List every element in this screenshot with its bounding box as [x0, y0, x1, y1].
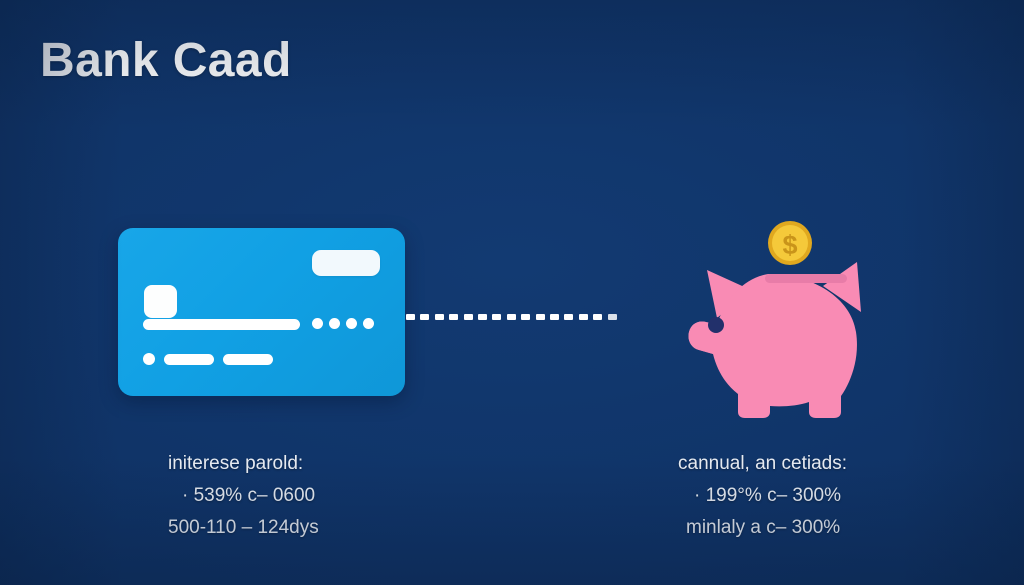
card-dot	[363, 318, 374, 329]
left-info-block: initerese parold: · 539% c– 0600 500-110…	[168, 448, 319, 544]
dash-segment	[492, 314, 501, 320]
slide-canvas: Bank Caad $	[0, 0, 1024, 585]
coin-dollar-icon: $	[782, 230, 797, 260]
dash-segment	[435, 314, 444, 320]
card-number-bar	[143, 319, 300, 330]
card-detail-bar-1	[164, 354, 214, 365]
left-line-2: · 539% c– 0600	[168, 480, 319, 512]
dash-segment	[521, 314, 530, 320]
card-dot	[346, 318, 357, 329]
dashed-connector-line	[406, 314, 622, 320]
piggy-eye	[708, 317, 724, 333]
dash-segment	[536, 314, 545, 320]
card-dot-group	[312, 318, 374, 329]
card-detail-bar-2	[223, 354, 273, 365]
card-chip-icon	[144, 285, 177, 318]
page-title: Bank Caad	[40, 33, 292, 88]
dash-segment	[564, 314, 573, 320]
dash-segment	[608, 314, 617, 320]
right-line-2: · 199°% c– 300%	[678, 480, 847, 512]
card-small-dot	[143, 353, 155, 365]
dash-segment	[507, 314, 516, 320]
credit-card-illustration	[118, 228, 405, 396]
card-stripe	[312, 250, 380, 276]
dash-segment	[579, 314, 588, 320]
dash-segment	[406, 314, 415, 320]
piggy-bank-illustration: $	[655, 212, 885, 427]
dash-segment	[449, 314, 458, 320]
dash-segment	[593, 314, 602, 320]
left-heading: initerese parold:	[168, 448, 319, 480]
right-heading: cannual, an cetiads:	[678, 448, 847, 480]
left-line-3: 500-110 – 124dys	[168, 512, 319, 544]
piggy-coin-slot	[765, 274, 847, 283]
right-info-block: cannual, an cetiads: · 199°% c– 300% min…	[678, 448, 847, 544]
dash-segment	[550, 314, 559, 320]
right-line-3: minlaly a c– 300%	[678, 512, 847, 544]
card-dot	[329, 318, 340, 329]
dash-segment	[420, 314, 429, 320]
dash-segment	[478, 314, 487, 320]
card-dot	[312, 318, 323, 329]
dash-segment	[464, 314, 473, 320]
